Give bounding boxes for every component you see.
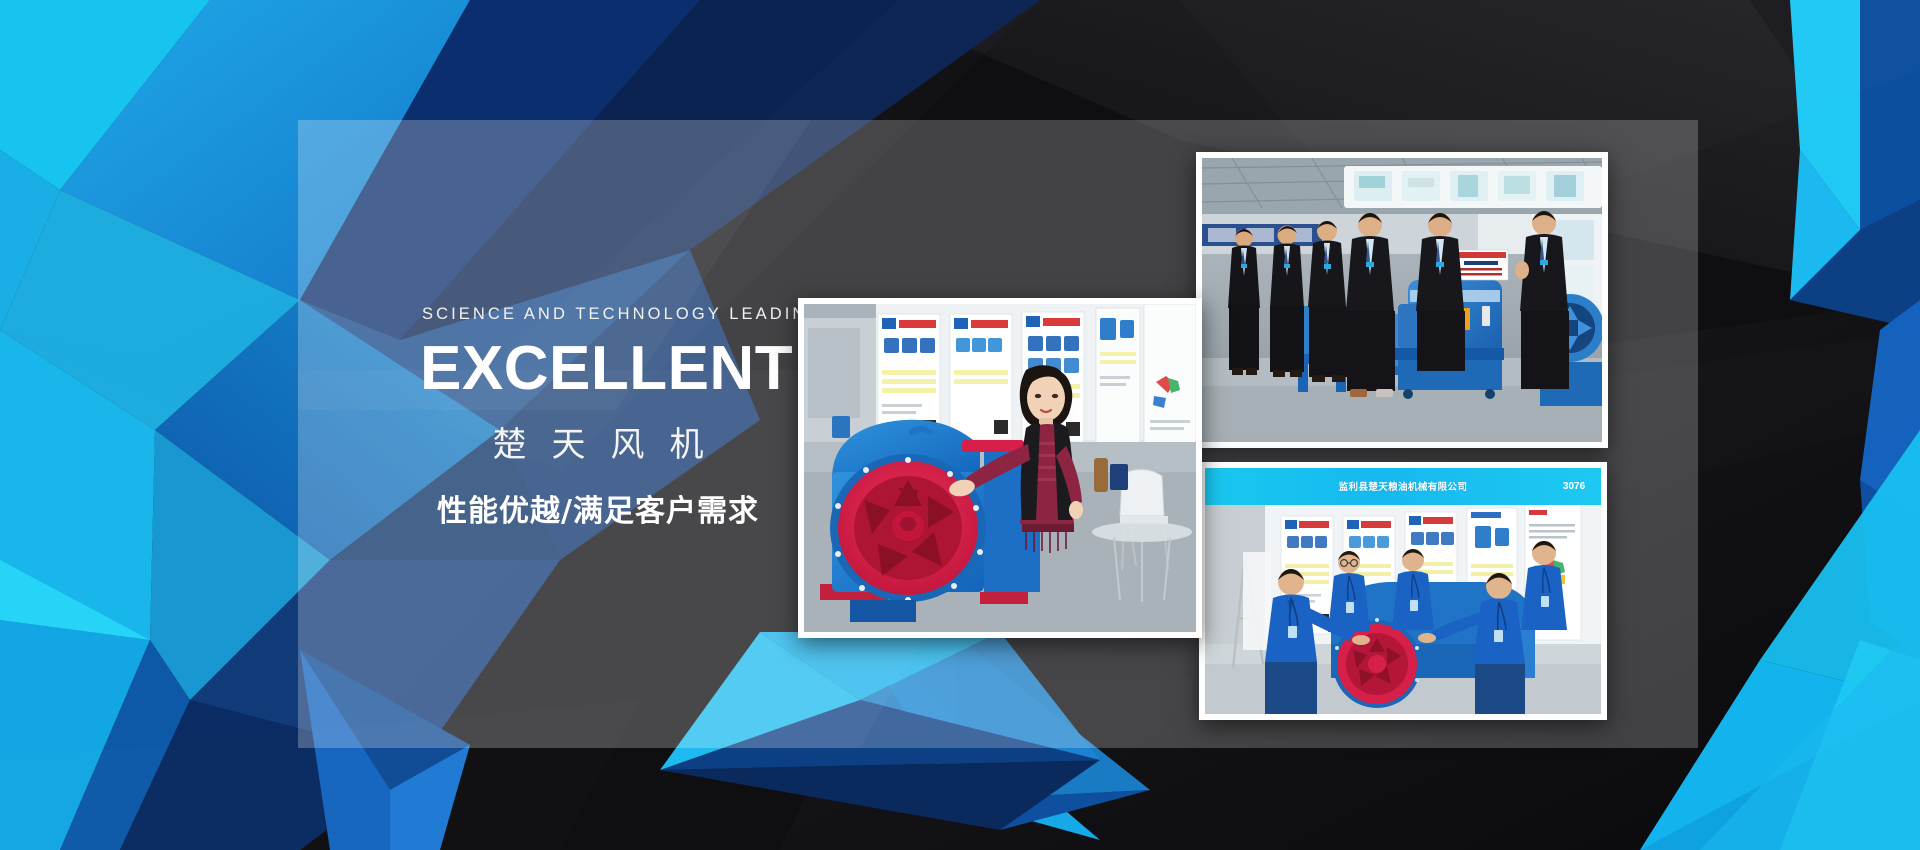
photo-fan-demo [798,298,1202,638]
photo-team-suits-image [1202,158,1602,442]
brand-name-cn: 楚天风机 [420,417,776,466]
photo-booth-staff-image [1205,468,1601,714]
photo-team-suits [1196,152,1608,448]
slogan-text: 性能优越/满足客户需求 [420,486,776,530]
page-title: EXCELLENT [420,337,776,400]
hero-banner: SCIENCE AND TECHNOLOGY LEADING EXCELLENT… [0,0,1920,850]
booth-banner-number: 3076 [1563,481,1585,492]
eyebrow-text: SCIENCE AND TECHNOLOGY LEADING [422,305,774,324]
booth-banner: 监利县楚天粮油机械有限公司 3076 [1205,468,1601,505]
photo-fan-demo-image [804,304,1196,632]
booth-banner-title: 监利县楚天粮油机械有限公司 [1339,479,1468,493]
photo-booth-staff: 监利县楚天粮油机械有限公司 3076 [1199,462,1607,720]
